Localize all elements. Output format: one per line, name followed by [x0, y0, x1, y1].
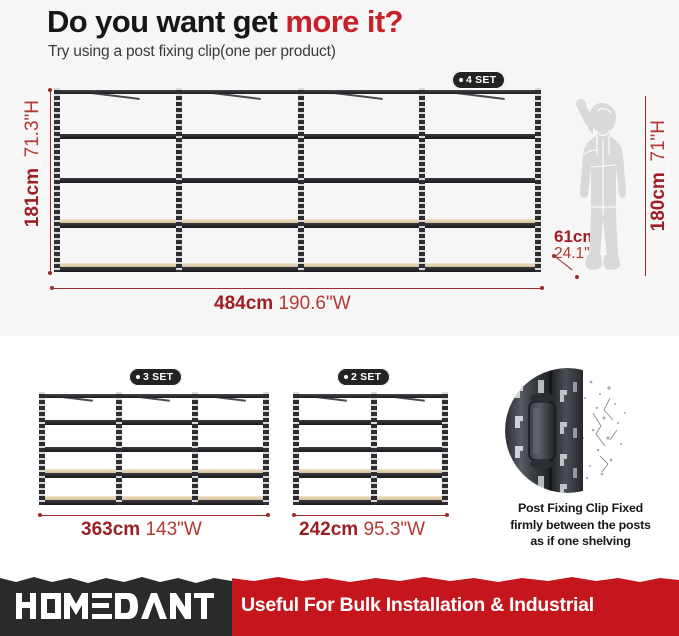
- width-metric: 363cm: [81, 519, 140, 540]
- shelf-level: [54, 133, 176, 139]
- badge-label: 2 SET: [351, 371, 381, 383]
- shelf-level: [39, 446, 116, 452]
- shelf-beam: [192, 473, 269, 478]
- shelf-beam: [293, 500, 371, 505]
- badge-4-set: 4 SET: [452, 71, 505, 89]
- shelf-beam: [192, 420, 269, 425]
- shelving-rack-2-set: [293, 392, 448, 505]
- shelf-beam: [116, 473, 193, 478]
- width-dimension-line-3set: [40, 515, 268, 516]
- shelf-level: [54, 177, 176, 183]
- upright-post: [298, 88, 304, 272]
- shelf-level: [39, 472, 116, 478]
- shelf-beam: [293, 420, 371, 425]
- shelf-level: [54, 266, 176, 272]
- dimension-endpoint-dot: [292, 513, 296, 517]
- shelf-level: [176, 222, 298, 228]
- width-metric: 242cm: [299, 519, 358, 540]
- shelf-beam: [176, 134, 298, 139]
- shelf-level: [298, 266, 420, 272]
- badge-label: 4 SET: [466, 74, 496, 86]
- shelf-beam: [176, 178, 298, 183]
- shelf-level: [293, 472, 371, 478]
- shelf-beam: [419, 178, 541, 183]
- shelf-beam: [39, 447, 116, 452]
- shelf-level: [116, 499, 193, 505]
- upright-post: [293, 392, 299, 505]
- bullet-dot-icon: [136, 375, 140, 379]
- dimension-endpoint-dot: [48, 88, 52, 92]
- shelf-level: [293, 419, 371, 425]
- shelf-level: [192, 419, 269, 425]
- upright-post: [176, 88, 182, 272]
- shelf-level: [419, 266, 541, 272]
- width-dimension-line: [52, 288, 542, 289]
- headline-accent: more it?: [285, 4, 403, 39]
- grunge-edge-brand: [0, 576, 232, 590]
- shelf-beam: [176, 90, 298, 94]
- shelf-bay: [371, 392, 449, 505]
- bullet-dot-icon: [344, 375, 348, 379]
- person-silhouette-icon: [572, 95, 638, 275]
- shelf-level: [176, 133, 298, 139]
- upright-post: [39, 392, 45, 505]
- caption-line-1: Post Fixing Clip Fixed: [481, 500, 679, 517]
- shelving-rack-3-set: [39, 392, 269, 505]
- shelf-level: [298, 222, 420, 228]
- shelf-beam: [116, 500, 193, 505]
- shelf-beam: [54, 134, 176, 139]
- shelf-beam: [371, 447, 449, 452]
- badge-3-set: 3 SET: [129, 368, 182, 386]
- page-subtitle: Try using a post fixing clip(one per pro…: [48, 43, 336, 61]
- person-imperial: 71"H: [648, 120, 669, 162]
- dimension-endpoint-dot: [48, 271, 52, 275]
- shelf-level: [176, 177, 298, 183]
- caption-line-3: as if one shelving: [481, 533, 679, 550]
- shelf-bay: [293, 392, 371, 505]
- shelf-beam: [419, 134, 541, 139]
- shelf-level: [419, 88, 541, 94]
- badge-label: 3 SET: [143, 371, 173, 383]
- upright-post: [116, 392, 122, 505]
- shelf-beam: [298, 178, 420, 183]
- person-height-dimension-line: [645, 96, 646, 276]
- height-metric: 181cm: [22, 168, 43, 227]
- shelf-level: [176, 88, 298, 94]
- shelf-beam: [176, 267, 298, 272]
- homedant-logo: [14, 590, 214, 622]
- shelf-level: [116, 446, 193, 452]
- shelf-bay: [176, 88, 298, 272]
- shelf-bay: [116, 392, 193, 505]
- shelf-level: [371, 499, 449, 505]
- shelf-beam: [116, 447, 193, 452]
- dimension-endpoint-dot: [575, 275, 579, 279]
- height-dimension-line: [50, 90, 51, 273]
- shelf-level: [298, 177, 420, 183]
- shelf-level: [298, 88, 420, 94]
- person-height-label: 180cm_71"H: [648, 120, 670, 231]
- shelf-bay: [39, 392, 116, 505]
- shelf-beam: [419, 267, 541, 272]
- shelf-beam: [54, 223, 176, 228]
- shelf-level: [116, 472, 193, 478]
- shelf-level: [192, 499, 269, 505]
- shelf-bay: [298, 88, 420, 272]
- shelf-beam: [54, 267, 176, 272]
- shelf-beam: [54, 90, 176, 94]
- shelf-beam: [419, 90, 541, 94]
- badge-2-set: 2 SET: [337, 368, 390, 386]
- shelf-level: [192, 446, 269, 452]
- dimension-endpoint-dot: [445, 513, 449, 517]
- shelf-beam: [293, 473, 371, 478]
- dimension-endpoint-dot: [38, 513, 42, 517]
- width-dimension-label: 484cm 190.6"W: [214, 293, 351, 315]
- shelf-beam: [192, 500, 269, 505]
- clip-feature-caption: Post Fixing Clip Fixed firmly between th…: [481, 500, 679, 550]
- person-metric: 180cm: [648, 172, 669, 231]
- shelf-bay: [54, 88, 176, 272]
- shelf-level: [371, 472, 449, 478]
- width-imperial: 143"W: [145, 519, 201, 540]
- shelf-level: [371, 446, 449, 452]
- bullet-dot-icon: [459, 78, 463, 82]
- shelf-level: [54, 222, 176, 228]
- shelf-beam: [298, 90, 420, 94]
- height-dimension-label: 181cm_71.3"H: [22, 100, 44, 227]
- dimension-endpoint-dot: [50, 286, 54, 290]
- upright-post: [371, 392, 377, 505]
- shelf-beam: [298, 267, 420, 272]
- shelf-level: [371, 419, 449, 425]
- footer-tagline: Useful For Bulk Installation & Industria…: [241, 594, 594, 617]
- width-dimension-line-2set: [294, 515, 447, 516]
- shelf-level: [419, 177, 541, 183]
- shelf-level: [419, 222, 541, 228]
- shelf-bay: [419, 88, 541, 272]
- shelf-level: [176, 266, 298, 272]
- width-imperial: 95.3"W: [363, 519, 425, 540]
- shelf-level: [192, 472, 269, 478]
- shelving-rack-4-set: [54, 88, 541, 272]
- footer-banner: Useful For Bulk Installation & Industria…: [0, 576, 679, 636]
- dimension-endpoint-dot: [540, 286, 544, 290]
- upright-post: [419, 88, 425, 272]
- width-dimension-label-2set: 242cm 95.3"W: [299, 519, 425, 541]
- shelf-level: [39, 499, 116, 505]
- shelf-beam: [419, 223, 541, 228]
- shelf-level: [419, 133, 541, 139]
- upright-post: [263, 392, 269, 505]
- shelf-beam: [39, 420, 116, 425]
- upright-post: [535, 88, 541, 272]
- shelf-beam: [298, 223, 420, 228]
- caption-line-2: firmly between the posts: [481, 517, 679, 534]
- shelf-beam: [39, 473, 116, 478]
- shelf-level: [39, 419, 116, 425]
- width-dimension-label-3set: 363cm 143"W: [81, 519, 202, 541]
- shelf-beam: [54, 178, 176, 183]
- shelf-beam: [371, 500, 449, 505]
- shelf-level: [298, 133, 420, 139]
- width-imperial: 190.6"W: [278, 293, 350, 314]
- shelf-level: [116, 419, 193, 425]
- shelf-level: [54, 88, 176, 94]
- upright-post: [54, 88, 60, 272]
- dimension-endpoint-dot: [266, 513, 270, 517]
- shelf-beam: [176, 223, 298, 228]
- shelf-level: [293, 499, 371, 505]
- post-fixing-clip-photo: [505, 368, 630, 493]
- shelf-beam: [371, 420, 449, 425]
- shelf-level: [293, 446, 371, 452]
- page-title: Do you want get more it?: [47, 4, 403, 40]
- shelf-beam: [116, 420, 193, 425]
- upright-post: [442, 392, 448, 505]
- shelf-bay: [192, 392, 269, 505]
- infographic-page: Do you want get more it? Try using a pos…: [0, 0, 679, 636]
- height-imperial: 71.3"H: [22, 100, 43, 157]
- shelf-beam: [293, 447, 371, 452]
- shelf-beam: [298, 134, 420, 139]
- upright-post: [192, 392, 198, 505]
- shelf-beam: [192, 447, 269, 452]
- headline-black: Do you want get: [47, 4, 285, 39]
- shelf-beam: [39, 500, 116, 505]
- shelf-beam: [371, 473, 449, 478]
- width-metric: 484cm: [214, 293, 273, 314]
